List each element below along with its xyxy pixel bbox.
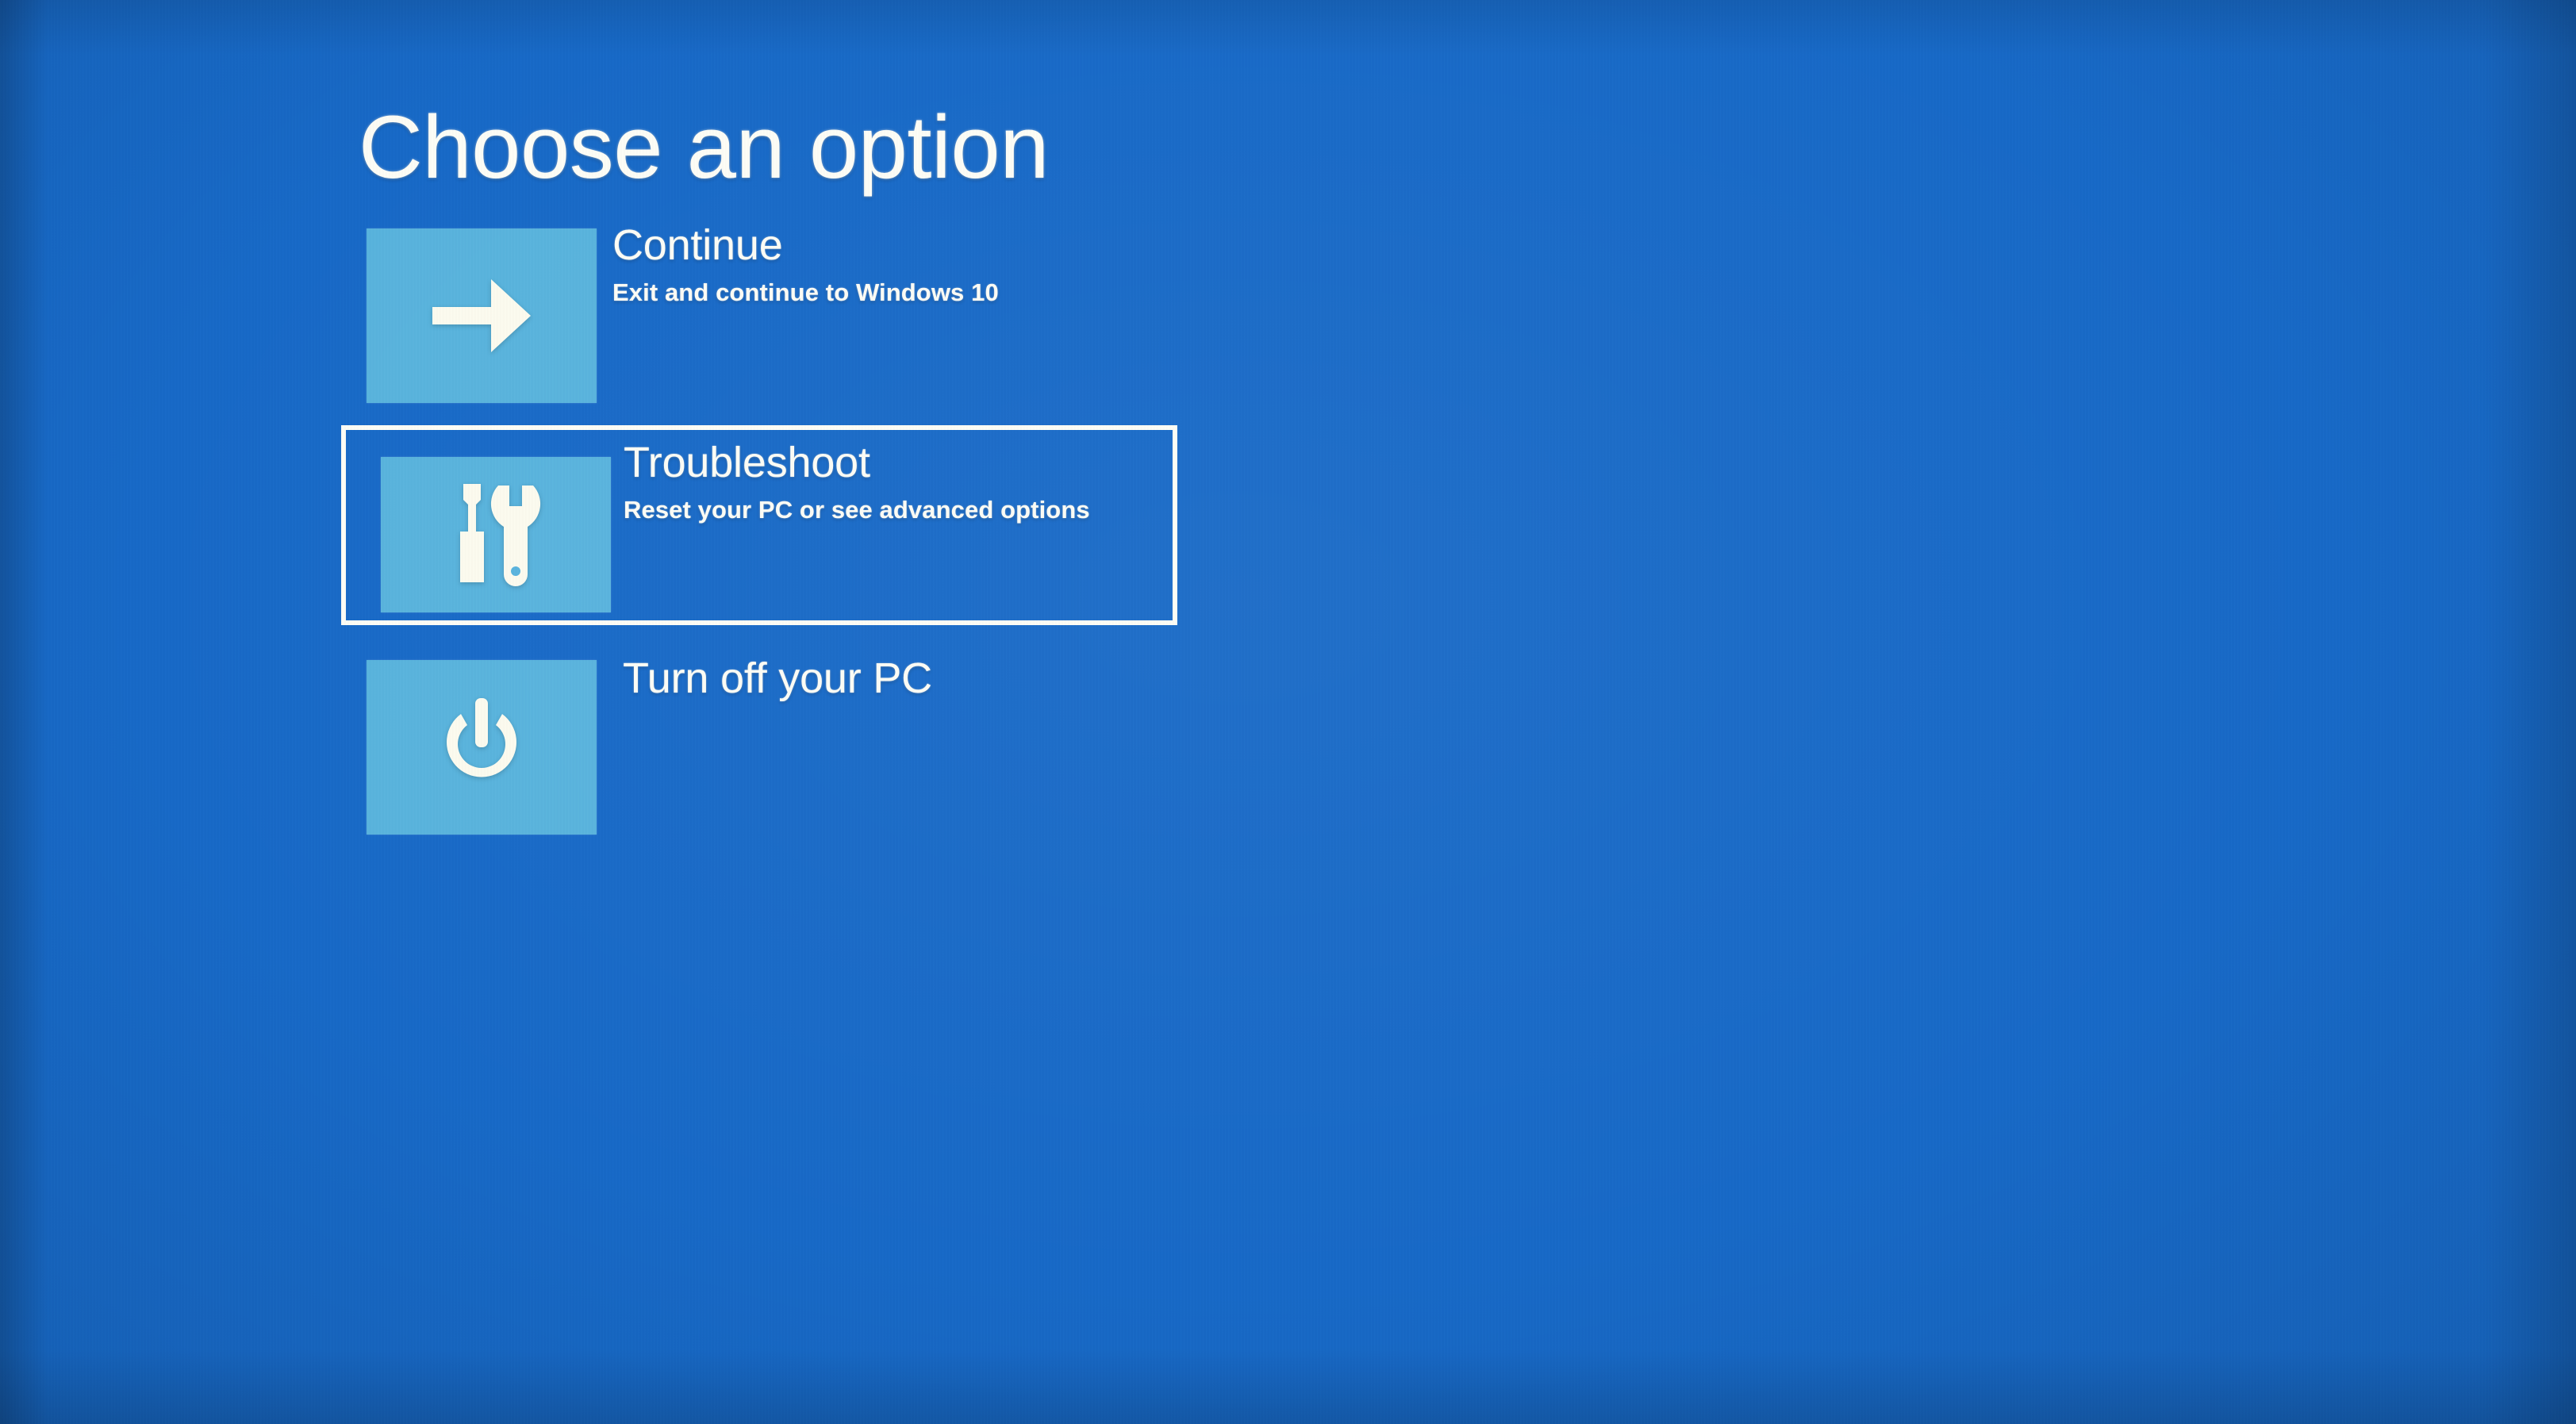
option-title: Troubleshoot — [624, 441, 1179, 484]
arrow-right-icon — [429, 273, 534, 359]
option-troubleshoot[interactable]: Troubleshoot Reset your PC or see advanc… — [341, 425, 1177, 625]
option-icon-tile — [367, 660, 597, 835]
option-continue[interactable]: Continue Exit and continue to Windows 10 — [341, 208, 1177, 408]
option-turn-off-your-pc[interactable]: Turn off your PC — [341, 639, 1177, 839]
page-title: Choose an option — [359, 101, 1049, 194]
screwdriver-wrench-icon — [446, 482, 546, 587]
option-text-block: Continue Exit and continue to Windows 10 — [612, 208, 1168, 305]
option-subtitle: Reset your PC or see advanced options — [624, 497, 1179, 522]
option-icon-tile — [381, 457, 611, 612]
recovery-choose-an-option-screen: Choose an option Continue Exit and conti… — [0, 0, 2576, 1424]
option-subtitle: Exit and continue to Windows 10 — [612, 280, 1168, 305]
option-icon-tile — [367, 228, 597, 403]
option-text-block: Turn off your PC — [623, 639, 1178, 700]
option-text-block: Troubleshoot Reset your PC or see advanc… — [624, 425, 1179, 522]
option-title: Continue — [612, 224, 1168, 267]
option-title: Turn off your PC — [623, 657, 1178, 700]
power-icon — [434, 698, 529, 796]
